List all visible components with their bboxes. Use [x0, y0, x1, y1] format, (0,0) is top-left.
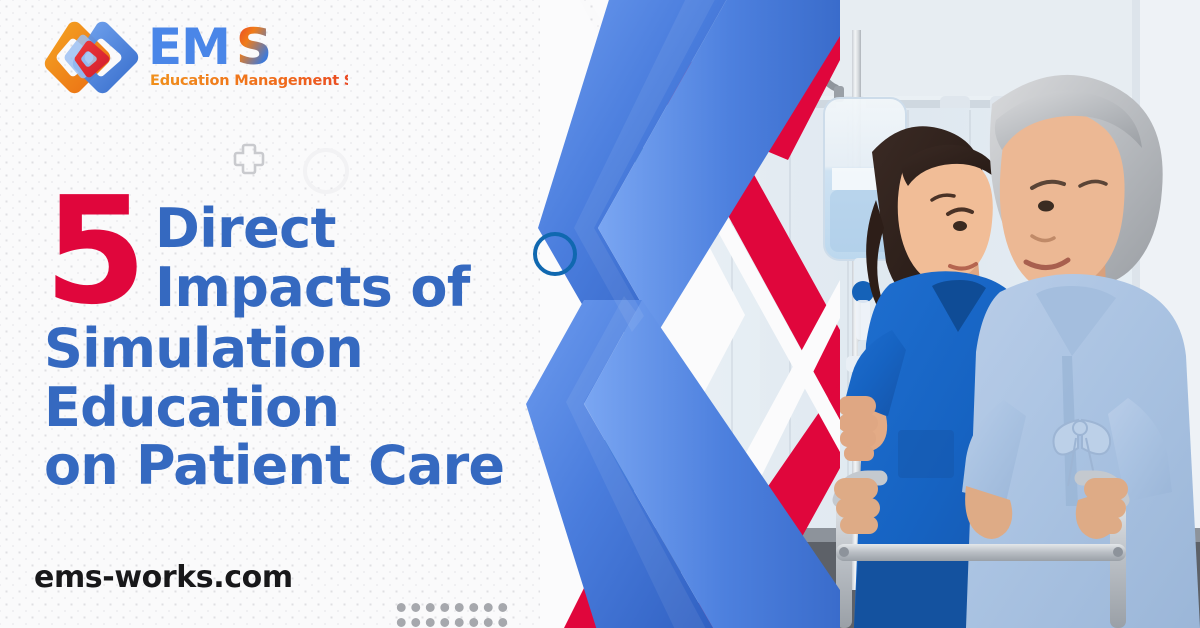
svg-text:S: S	[236, 22, 272, 76]
headline-line-4: on Patient Care	[44, 437, 604, 496]
ems-logo[interactable]: EM S Education Management Solutions	[44, 18, 348, 100]
plus-icon	[232, 142, 266, 176]
headline-line-1: Direct	[155, 200, 470, 259]
headline-line-2: Impacts of	[155, 259, 470, 318]
website-url[interactable]: ems-works.com	[34, 560, 293, 595]
headline-line-3: Simulation Education	[44, 320, 604, 438]
ems-logo-wordmark: EM S Education Management Solutions	[148, 18, 348, 96]
ems-logo-mark-icon	[44, 18, 144, 100]
svg-text:EM: EM	[148, 22, 230, 76]
headline-block: 5 Direct Impacts of Simulation Education…	[44, 186, 604, 496]
dot-grid-pattern	[392, 598, 508, 628]
svg-text:Education Management Solutions: Education Management Solutions	[150, 73, 348, 89]
promo-banner: EM S Education Management Solutions 5 Di…	[0, 0, 1200, 628]
headline-number: 5	[44, 186, 143, 316]
